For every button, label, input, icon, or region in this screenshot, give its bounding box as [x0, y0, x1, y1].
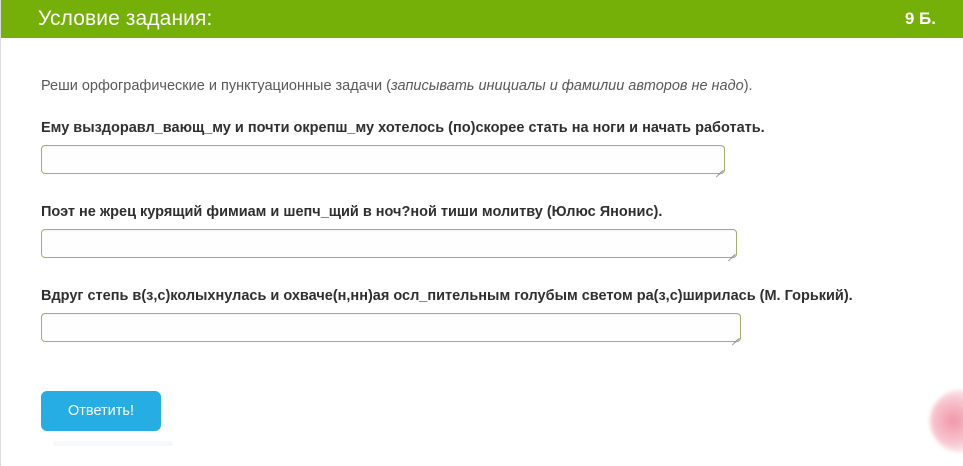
task-header: Условие задания: 9 Б. [1, 0, 963, 38]
answer-field-wrap-2 [41, 229, 737, 258]
answer-input-2[interactable] [41, 229, 737, 258]
question-block-3: Вдруг степь в(з,с)колыхнулась и охваче(н… [41, 286, 871, 347]
question-block-2: Поэт не жрец курящий фимиам и шепч_щий в… [41, 202, 921, 263]
page-title: Условие задания: [38, 0, 212, 38]
task-body: Реши орфографические и пунктуационные за… [1, 38, 963, 466]
instructions-lead: Реши орфографические и пунктуационные за… [41, 78, 391, 94]
submit-answer-button[interactable]: Ответить! [41, 391, 161, 431]
answer-input-3[interactable] [41, 313, 741, 342]
answer-input-1[interactable] [41, 145, 725, 174]
floating-help-bubble-icon[interactable] [930, 390, 963, 452]
question-prompt-2: Поэт не жрец курящий фимиам и шепч_щий в… [41, 202, 921, 223]
question-prompt-3: Вдруг степь в(з,с)колыхнулась и охваче(н… [41, 286, 871, 307]
task-card: Условие задания: 9 Б. Реши орфографическ… [0, 0, 963, 466]
page-footer-artifact [53, 441, 173, 446]
question-block-1: Ему выздоравл_вающ_му и почти окрепш_му … [41, 118, 921, 179]
question-prompt-1: Ему выздоравл_вающ_му и почти окрепш_му … [41, 118, 921, 139]
answer-field-wrap-1 [41, 145, 725, 174]
instructions-tail: ). [744, 78, 753, 94]
answer-field-wrap-3 [41, 313, 741, 342]
points-badge: 9 Б. [905, 0, 936, 38]
instructions-emphasis: записывать инициалы и фамилии авторов не… [391, 78, 744, 94]
instructions-text: Реши орфографические и пунктуационные за… [41, 77, 921, 96]
